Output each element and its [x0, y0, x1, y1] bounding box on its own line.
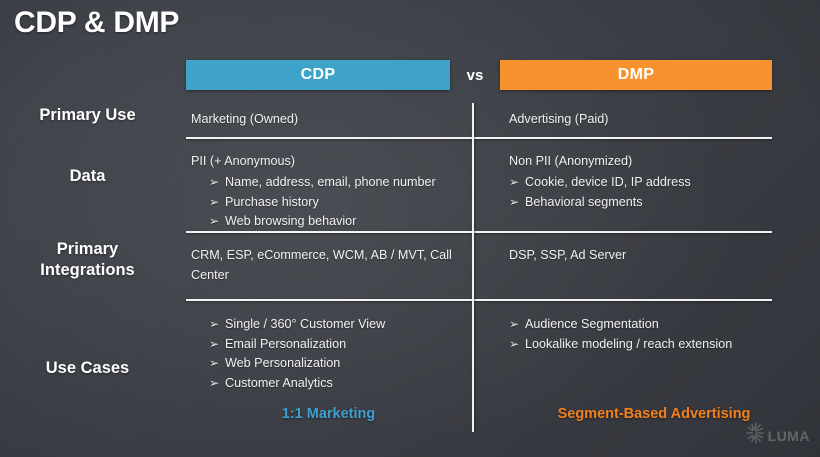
cell-data-dmp-bullets: ➢ Cookie, device ID, IP address ➢ Behavi…: [509, 173, 799, 212]
list-item: ➢ Single / 360° Customer View: [209, 315, 466, 335]
slide-canvas: CDP & DMP CDP vs DMP Primary Use Data Pr…: [0, 0, 820, 457]
cell-primary-use-dmp-text: Advertising (Paid): [509, 110, 799, 130]
column-header-dmp[interactable]: DMP: [500, 60, 772, 90]
list-item-label: Name, address, email, phone number: [225, 175, 436, 189]
arrow-bullet-icon: ➢: [509, 335, 519, 354]
row-label-primary-integrations-line2: Integrations: [40, 261, 134, 279]
arrow-bullet-icon: ➢: [209, 315, 219, 334]
cell-primary-use-cdp-text: Marketing (Owned): [191, 110, 466, 130]
list-item-label: Purchase history: [225, 195, 319, 209]
list-item-label: Cookie, device ID, IP address: [525, 175, 691, 189]
list-item: ➢ Email Personalization: [209, 335, 466, 355]
arrow-bullet-icon: ➢: [209, 374, 219, 393]
row-label-primary-use: Primary Use: [0, 105, 175, 126]
cell-use-cases-cdp-bullets: ➢ Single / 360° Customer View ➢ Email Pe…: [209, 315, 466, 394]
row-divider-1: [186, 137, 772, 139]
arrow-bullet-icon: ➢: [209, 193, 219, 212]
cell-data-cdp-lead: PII (+ Anonymous): [191, 152, 466, 172]
cell-data-cdp-bullets: ➢ Name, address, email, phone number ➢ P…: [209, 173, 466, 232]
list-item-label: Behavioral segments: [525, 195, 643, 209]
list-item: ➢ Purchase history: [209, 193, 466, 213]
list-item-label: Lookalike modeling / reach extension: [525, 337, 732, 351]
list-item: ➢ Audience Segmentation: [509, 315, 799, 335]
list-item-label: Single / 360° Customer View: [225, 317, 385, 331]
cell-primary-integrations-dmp-text: DSP, SSP, Ad Server: [509, 246, 799, 266]
luma-wordmark: LUMA: [768, 428, 810, 444]
sunburst-icon: [745, 422, 765, 449]
list-item-label: Email Personalization: [225, 337, 346, 351]
list-item-label: Audience Segmentation: [525, 317, 659, 331]
list-item: ➢ Lookalike modeling / reach extension: [509, 335, 799, 355]
cell-data-dmp-lead: Non PII (Anonymized): [509, 152, 799, 172]
list-item-label: Web browsing behavior: [225, 214, 356, 228]
cell-data-cdp: PII (+ Anonymous) ➢ Name, address, email…: [191, 152, 466, 232]
row-label-primary-integrations: Primary Integrations: [0, 239, 175, 281]
arrow-bullet-icon: ➢: [509, 315, 519, 334]
summary-cdp: 1:1 Marketing: [191, 406, 466, 422]
cell-data-dmp: Non PII (Anonymized) ➢ Cookie, device ID…: [509, 152, 799, 212]
arrow-bullet-icon: ➢: [209, 354, 219, 373]
list-item: ➢ Customer Analytics: [209, 374, 466, 394]
arrow-bullet-icon: ➢: [509, 193, 519, 212]
cell-primary-integrations-cdp-text: CRM, ESP, eCommerce, WCM, AB / MVT, Call…: [191, 246, 466, 286]
row-label-data: Data: [0, 166, 175, 187]
cell-use-cases-dmp: ➢ Audience Segmentation ➢ Lookalike mode…: [509, 315, 799, 354]
row-divider-3: [186, 299, 772, 301]
column-divider: [472, 103, 474, 432]
cell-primary-use-cdp: Marketing (Owned): [191, 110, 466, 131]
page-title: CDP & DMP: [14, 6, 179, 40]
arrow-bullet-icon: ➢: [209, 335, 219, 354]
list-item-label: Customer Analytics: [225, 376, 333, 390]
luma-watermark: LUMA: [745, 422, 810, 449]
list-item: ➢ Web Personalization: [209, 354, 466, 374]
list-item-label: Web Personalization: [225, 356, 340, 370]
versus-label: vs: [450, 60, 500, 90]
cell-primary-use-dmp: Advertising (Paid): [509, 110, 799, 131]
arrow-bullet-icon: ➢: [509, 173, 519, 192]
cell-use-cases-dmp-bullets: ➢ Audience Segmentation ➢ Lookalike mode…: [509, 315, 799, 354]
arrow-bullet-icon: ➢: [209, 173, 219, 192]
column-header-cdp-label: CDP: [301, 66, 336, 84]
list-item: ➢ Behavioral segments: [509, 193, 799, 213]
cell-primary-integrations-cdp: CRM, ESP, eCommerce, WCM, AB / MVT, Call…: [191, 246, 466, 287]
cell-primary-integrations-dmp: DSP, SSP, Ad Server: [509, 246, 799, 267]
summary-dmp: Segment-Based Advertising: [509, 406, 799, 422]
cell-use-cases-cdp: ➢ Single / 360° Customer View ➢ Email Pe…: [191, 315, 466, 394]
list-item: ➢ Name, address, email, phone number: [209, 173, 466, 193]
column-header-cdp[interactable]: CDP: [186, 60, 450, 90]
column-header-dmp-label: DMP: [618, 66, 654, 84]
row-label-primary-integrations-line1: Primary: [57, 240, 118, 258]
row-label-use-cases: Use Cases: [0, 358, 175, 379]
arrow-bullet-icon: ➢: [209, 212, 219, 231]
list-item: ➢ Cookie, device ID, IP address: [509, 173, 799, 193]
list-item: ➢ Web browsing behavior: [209, 212, 466, 232]
